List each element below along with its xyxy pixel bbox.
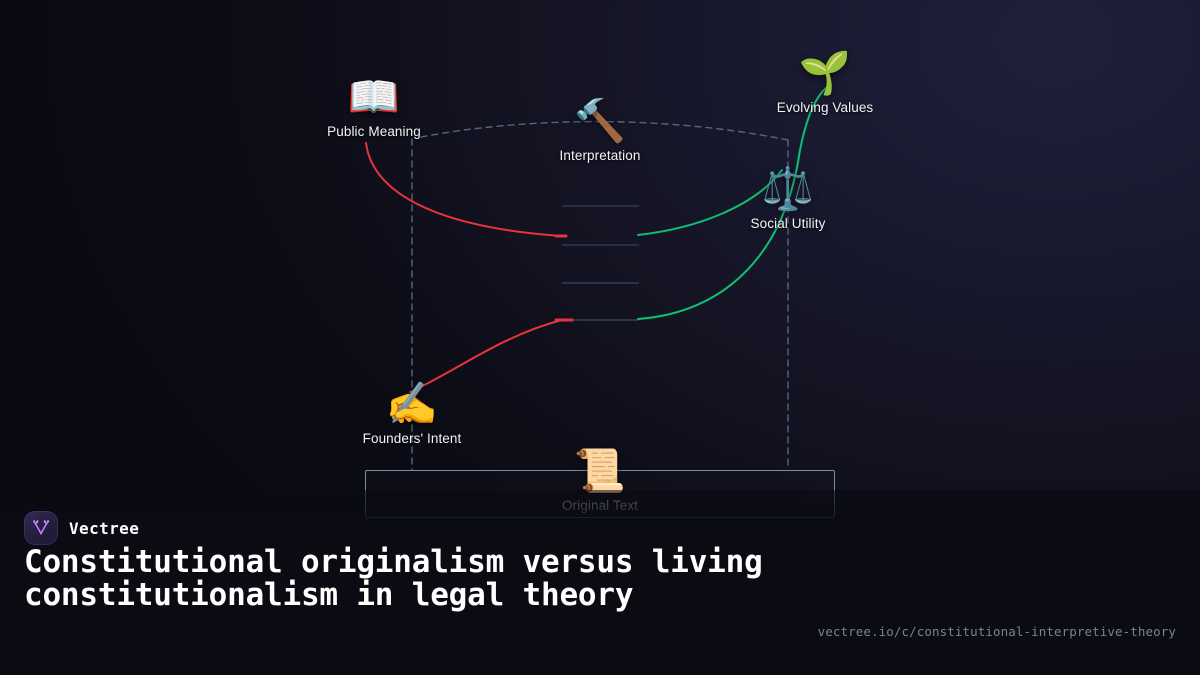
vectree-sprout-v-icon [30,517,52,539]
node-social-utility[interactable]: ⚖️ Social Utility [751,168,826,231]
node-label-public-meaning: Public Meaning [327,124,421,139]
node-label-social-utility: Social Utility [751,216,826,231]
node-interpretation[interactable]: 🔨 Interpretation [560,100,641,163]
screenshot-root: 📖 Public Meaning 🔨 Interpretation 🌱 Evol… [0,0,1200,675]
brand-row: Vectree [24,511,139,545]
balance-scale-icon: ⚖️ [762,168,814,210]
node-public-meaning[interactable]: 📖 Public Meaning [327,76,421,139]
hammer-icon: 🔨 [574,100,626,142]
node-founders-intent[interactable]: ✍️ Founders' Intent [363,383,462,446]
open-book-icon: 📖 [348,76,400,118]
writing-hand-icon: ✍️ [386,383,438,425]
scroll-icon: 📜 [574,450,626,492]
seedling-icon: 🌱 [799,52,851,94]
node-label-founders-intent: Founders' Intent [363,431,462,446]
edge-public-meaning-to-core [366,143,562,236]
node-evolving-values[interactable]: 🌱 Evolving Values [777,52,874,115]
node-label-interpretation: Interpretation [560,148,641,163]
vectree-logo [24,511,58,545]
node-label-evolving-values: Evolving Values [777,100,874,115]
page-title: Constitutional originalism versus living… [24,546,814,612]
footer-url: vectree.io/c/constitutional-interpretive… [818,624,1176,639]
brand-name: Vectree [69,519,139,538]
